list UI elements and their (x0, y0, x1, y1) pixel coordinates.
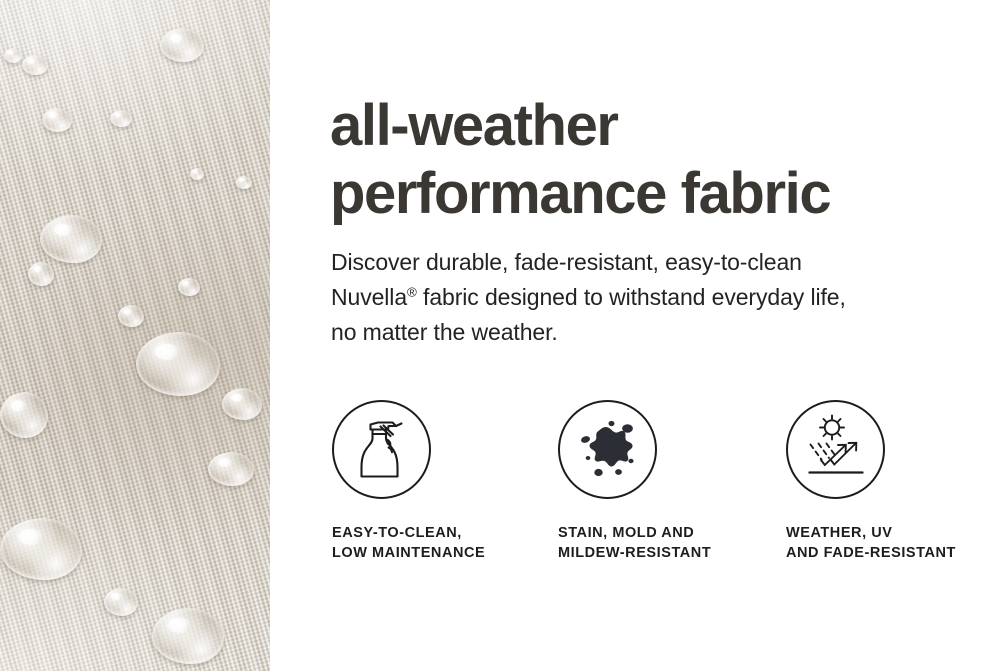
headline-line-2: performance fabric (330, 160, 970, 228)
water-droplet (104, 588, 138, 616)
all-weather-fabric-banner: all-weather performance fabric Discover … (0, 0, 1005, 671)
feature-label-line-2: LOW MAINTENANCE (332, 543, 562, 563)
water-droplet (208, 452, 254, 486)
water-droplet (118, 305, 144, 327)
feature-label-line-1: EASY-TO-CLEAN, (332, 523, 562, 543)
feature-label: EASY-TO-CLEAN, LOW MAINTENANCE (332, 499, 562, 563)
page-title: all-weather performance fabric (330, 92, 970, 228)
feature-label: STAIN, MOLD AND MILDEW-RESISTANT (558, 499, 788, 563)
fabric-hero-image (0, 0, 270, 671)
water-droplet (4, 48, 22, 63)
water-droplet (236, 176, 252, 189)
water-droplet (222, 388, 262, 420)
water-droplet (178, 278, 200, 296)
body-line-1: Discover durable, fade-resistant, easy-t… (331, 245, 951, 280)
water-droplet (136, 332, 220, 396)
water-droplet (0, 518, 82, 580)
body-line-2: Nuvella® fabric designed to withstand ev… (331, 280, 951, 315)
feature-list: EASY-TO-CLEAN, LOW MAINTENANCE (330, 400, 990, 570)
water-droplet (42, 108, 72, 132)
feature-item-easy-to-clean: EASY-TO-CLEAN, LOW MAINTENANCE (332, 400, 562, 563)
feature-label-line-1: WEATHER, UV (786, 523, 1005, 543)
water-droplet (22, 55, 48, 75)
water-droplet (0, 392, 48, 438)
water-droplet (40, 215, 102, 263)
feature-label: WEATHER, UV AND FADE-RESISTANT (786, 499, 1005, 563)
feature-item-weather-uv-resistant: WEATHER, UV AND FADE-RESISTANT (786, 400, 1005, 563)
water-droplet (28, 262, 54, 286)
feature-label-line-2: AND FADE-RESISTANT (786, 543, 1005, 563)
sun-uv-reflect-icon (786, 400, 885, 499)
feature-label-line-2: MILDEW-RESISTANT (558, 543, 788, 563)
body-line-3: no matter the weather. (331, 315, 951, 350)
headline-line-1: all-weather (330, 92, 970, 160)
registered-trademark-icon: ® (407, 285, 417, 300)
water-droplet (110, 110, 132, 127)
stain-splatter-icon (558, 400, 657, 499)
brand-name: Nuvella (331, 284, 407, 310)
content-column: all-weather performance fabric Discover … (330, 0, 990, 671)
water-droplet (190, 168, 204, 180)
feature-item-stain-resistant: STAIN, MOLD AND MILDEW-RESISTANT (558, 400, 788, 563)
body-copy: Discover durable, fade-resistant, easy-t… (331, 245, 951, 350)
water-droplet (152, 608, 224, 664)
spray-bottle-icon (332, 400, 431, 499)
body-line-2-rest: fabric designed to withstand everyday li… (417, 284, 846, 310)
water-droplet (160, 28, 204, 62)
feature-label-line-1: STAIN, MOLD AND (558, 523, 788, 543)
